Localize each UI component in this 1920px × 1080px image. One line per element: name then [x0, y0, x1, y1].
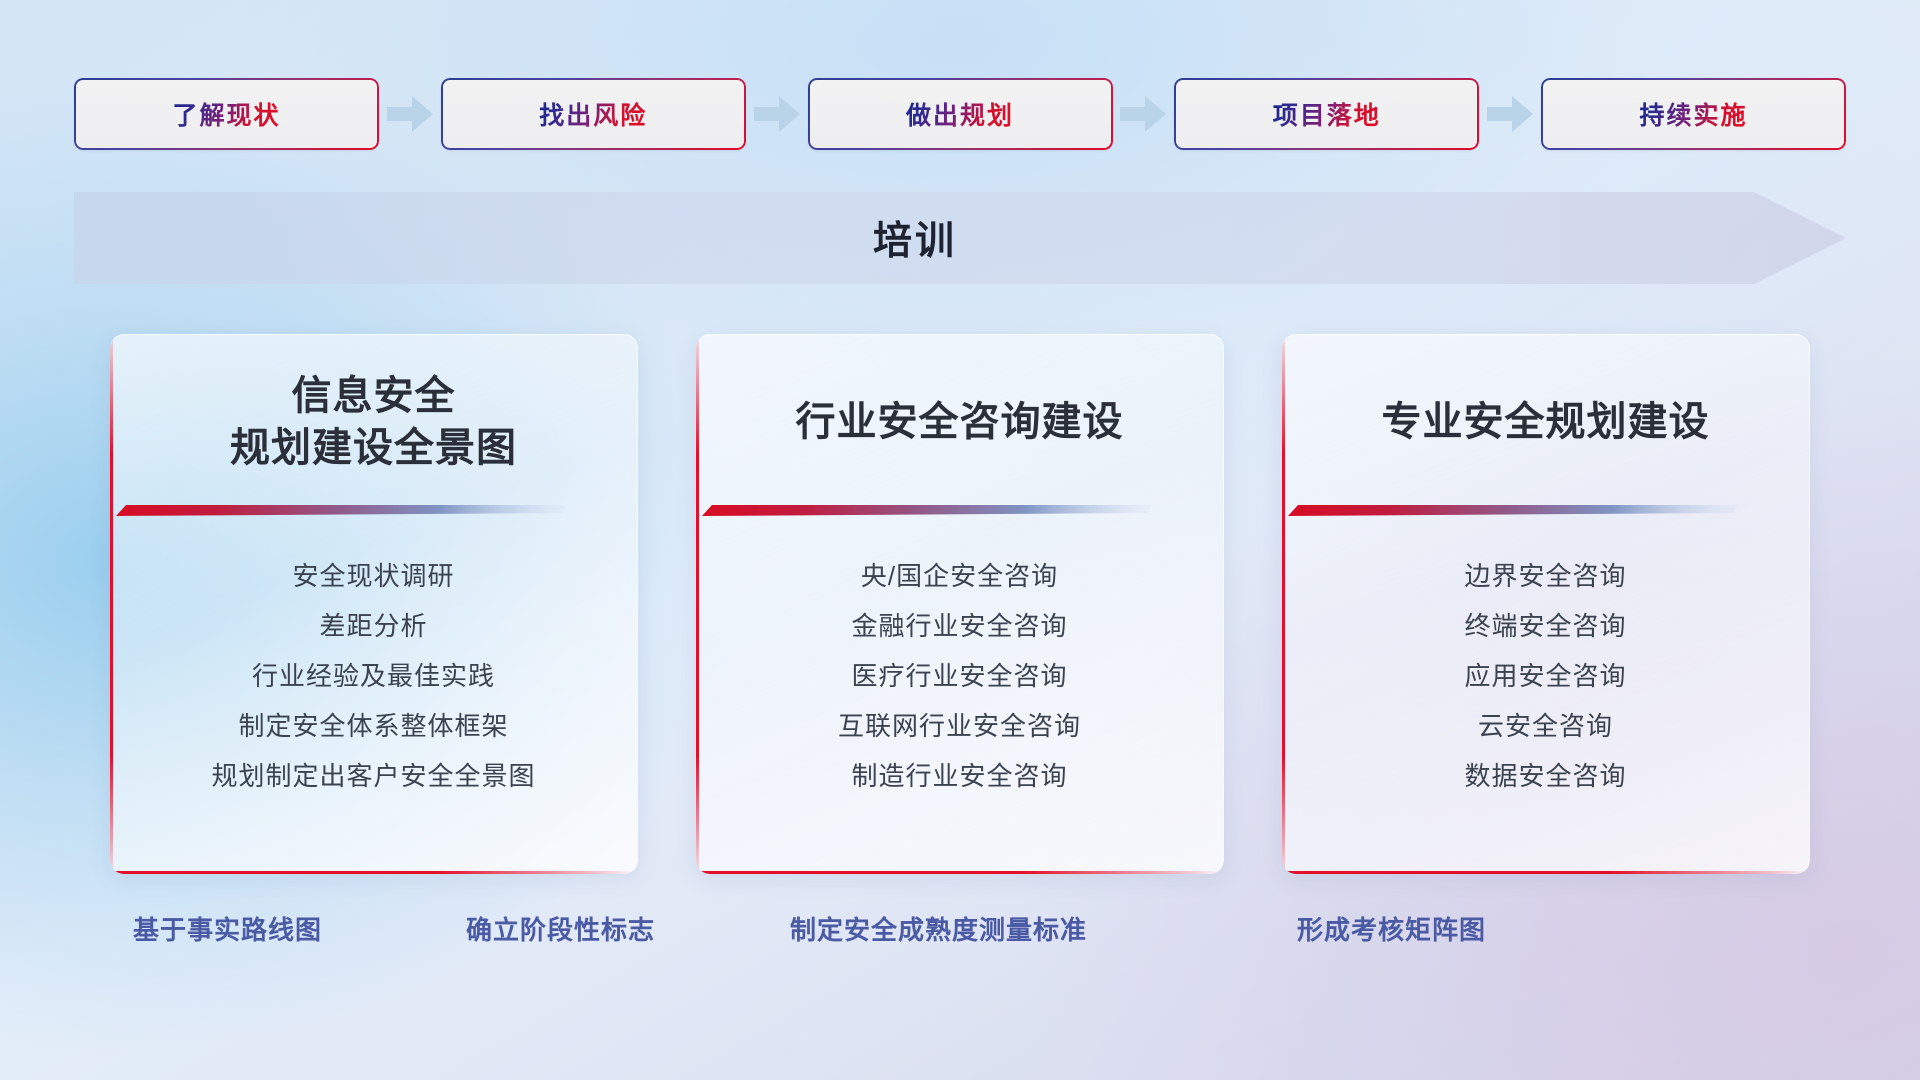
card-group: 信息安全 规划建设全景图 安全现状调研 差距分析 行业经验及最佳实践 制定安全体… [110, 334, 1810, 874]
list-item: 边界安全咨询 [1282, 551, 1809, 601]
card-title: 信息安全 规划建设全景图 [206, 370, 541, 474]
right-arrow-icon [379, 78, 441, 150]
list-item: 云安全咨询 [1282, 701, 1809, 751]
list-item: 制定安全体系整体框架 [110, 701, 637, 751]
footnote-0: 基于事实路线图 [133, 910, 322, 947]
flow-step-label: 找出风险 [539, 96, 647, 132]
card-divider [696, 505, 1152, 516]
list-item: 差距分析 [110, 601, 637, 651]
right-arrow-icon [1113, 78, 1175, 150]
list-item: 金融行业安全咨询 [696, 601, 1223, 651]
training-banner: 培训 [74, 192, 1846, 284]
card-divider [110, 505, 566, 516]
list-item: 行业经验及最佳实践 [110, 651, 637, 701]
card-list: 边界安全咨询 终端安全咨询 应用安全咨询 云安全咨询 数据安全咨询 [1282, 551, 1809, 801]
right-arrow-icon [1479, 78, 1541, 150]
footnote-row: 基于事实路线图 确立阶段性标志 制定安全成熟度测量标准 形成考核矩阵图 [0, 910, 1920, 958]
flow-step-3[interactable]: 项目落地 [1174, 78, 1479, 150]
list-item: 安全现状调研 [110, 551, 637, 601]
card-list: 安全现状调研 差距分析 行业经验及最佳实践 制定安全体系整体框架 规划制定出客户… [110, 551, 637, 801]
flow-step-2[interactable]: 做出规划 [808, 78, 1113, 150]
card-0[interactable]: 信息安全 规划建设全景图 安全现状调研 差距分析 行业经验及最佳实践 制定安全体… [110, 334, 638, 874]
right-arrow-icon [746, 78, 808, 150]
list-item: 规划制定出客户安全全景图 [110, 751, 637, 801]
card-title-wrap: 行业安全咨询建设 [696, 335, 1223, 495]
card-title: 专业安全规划建设 [1358, 396, 1734, 448]
card-1[interactable]: 行业安全咨询建设 央/国企安全咨询 金融行业安全咨询 医疗行业安全咨询 互联网行… [696, 334, 1224, 874]
card-title-wrap: 信息安全 规划建设全景图 [110, 335, 637, 495]
process-flow-strip: 了解现状 找出风险 做出规划 项目落地 持续实施 [74, 78, 1846, 150]
banner-title: 培训 [74, 192, 1756, 284]
list-item: 数据安全咨询 [1282, 751, 1809, 801]
footnote-1: 确立阶段性标志 [466, 910, 655, 947]
flow-step-4[interactable]: 持续实施 [1541, 78, 1846, 150]
footnote-2: 制定安全成熟度测量标准 [790, 910, 1087, 947]
footnote-3: 形成考核矩阵图 [1297, 910, 1486, 947]
list-item: 央/国企安全咨询 [696, 551, 1223, 601]
list-item: 医疗行业安全咨询 [696, 651, 1223, 701]
list-item: 互联网行业安全咨询 [696, 701, 1223, 751]
card-list: 央/国企安全咨询 金融行业安全咨询 医疗行业安全咨询 互联网行业安全咨询 制造行… [696, 551, 1223, 801]
list-item: 终端安全咨询 [1282, 601, 1809, 651]
card-2[interactable]: 专业安全规划建设 边界安全咨询 终端安全咨询 应用安全咨询 云安全咨询 数据安全… [1282, 334, 1810, 874]
flow-step-label: 做出规划 [906, 96, 1014, 132]
card-divider [1282, 505, 1738, 516]
card-title: 行业安全咨询建设 [772, 396, 1148, 448]
flow-step-0[interactable]: 了解现状 [74, 78, 379, 150]
flow-step-label: 了解现状 [172, 96, 280, 132]
card-title-wrap: 专业安全规划建设 [1282, 335, 1809, 495]
flow-step-1[interactable]: 找出风险 [441, 78, 746, 150]
flow-step-label: 持续实施 [1639, 96, 1747, 132]
flow-step-label: 项目落地 [1273, 96, 1381, 132]
list-item: 应用安全咨询 [1282, 651, 1809, 701]
list-item: 制造行业安全咨询 [696, 751, 1223, 801]
